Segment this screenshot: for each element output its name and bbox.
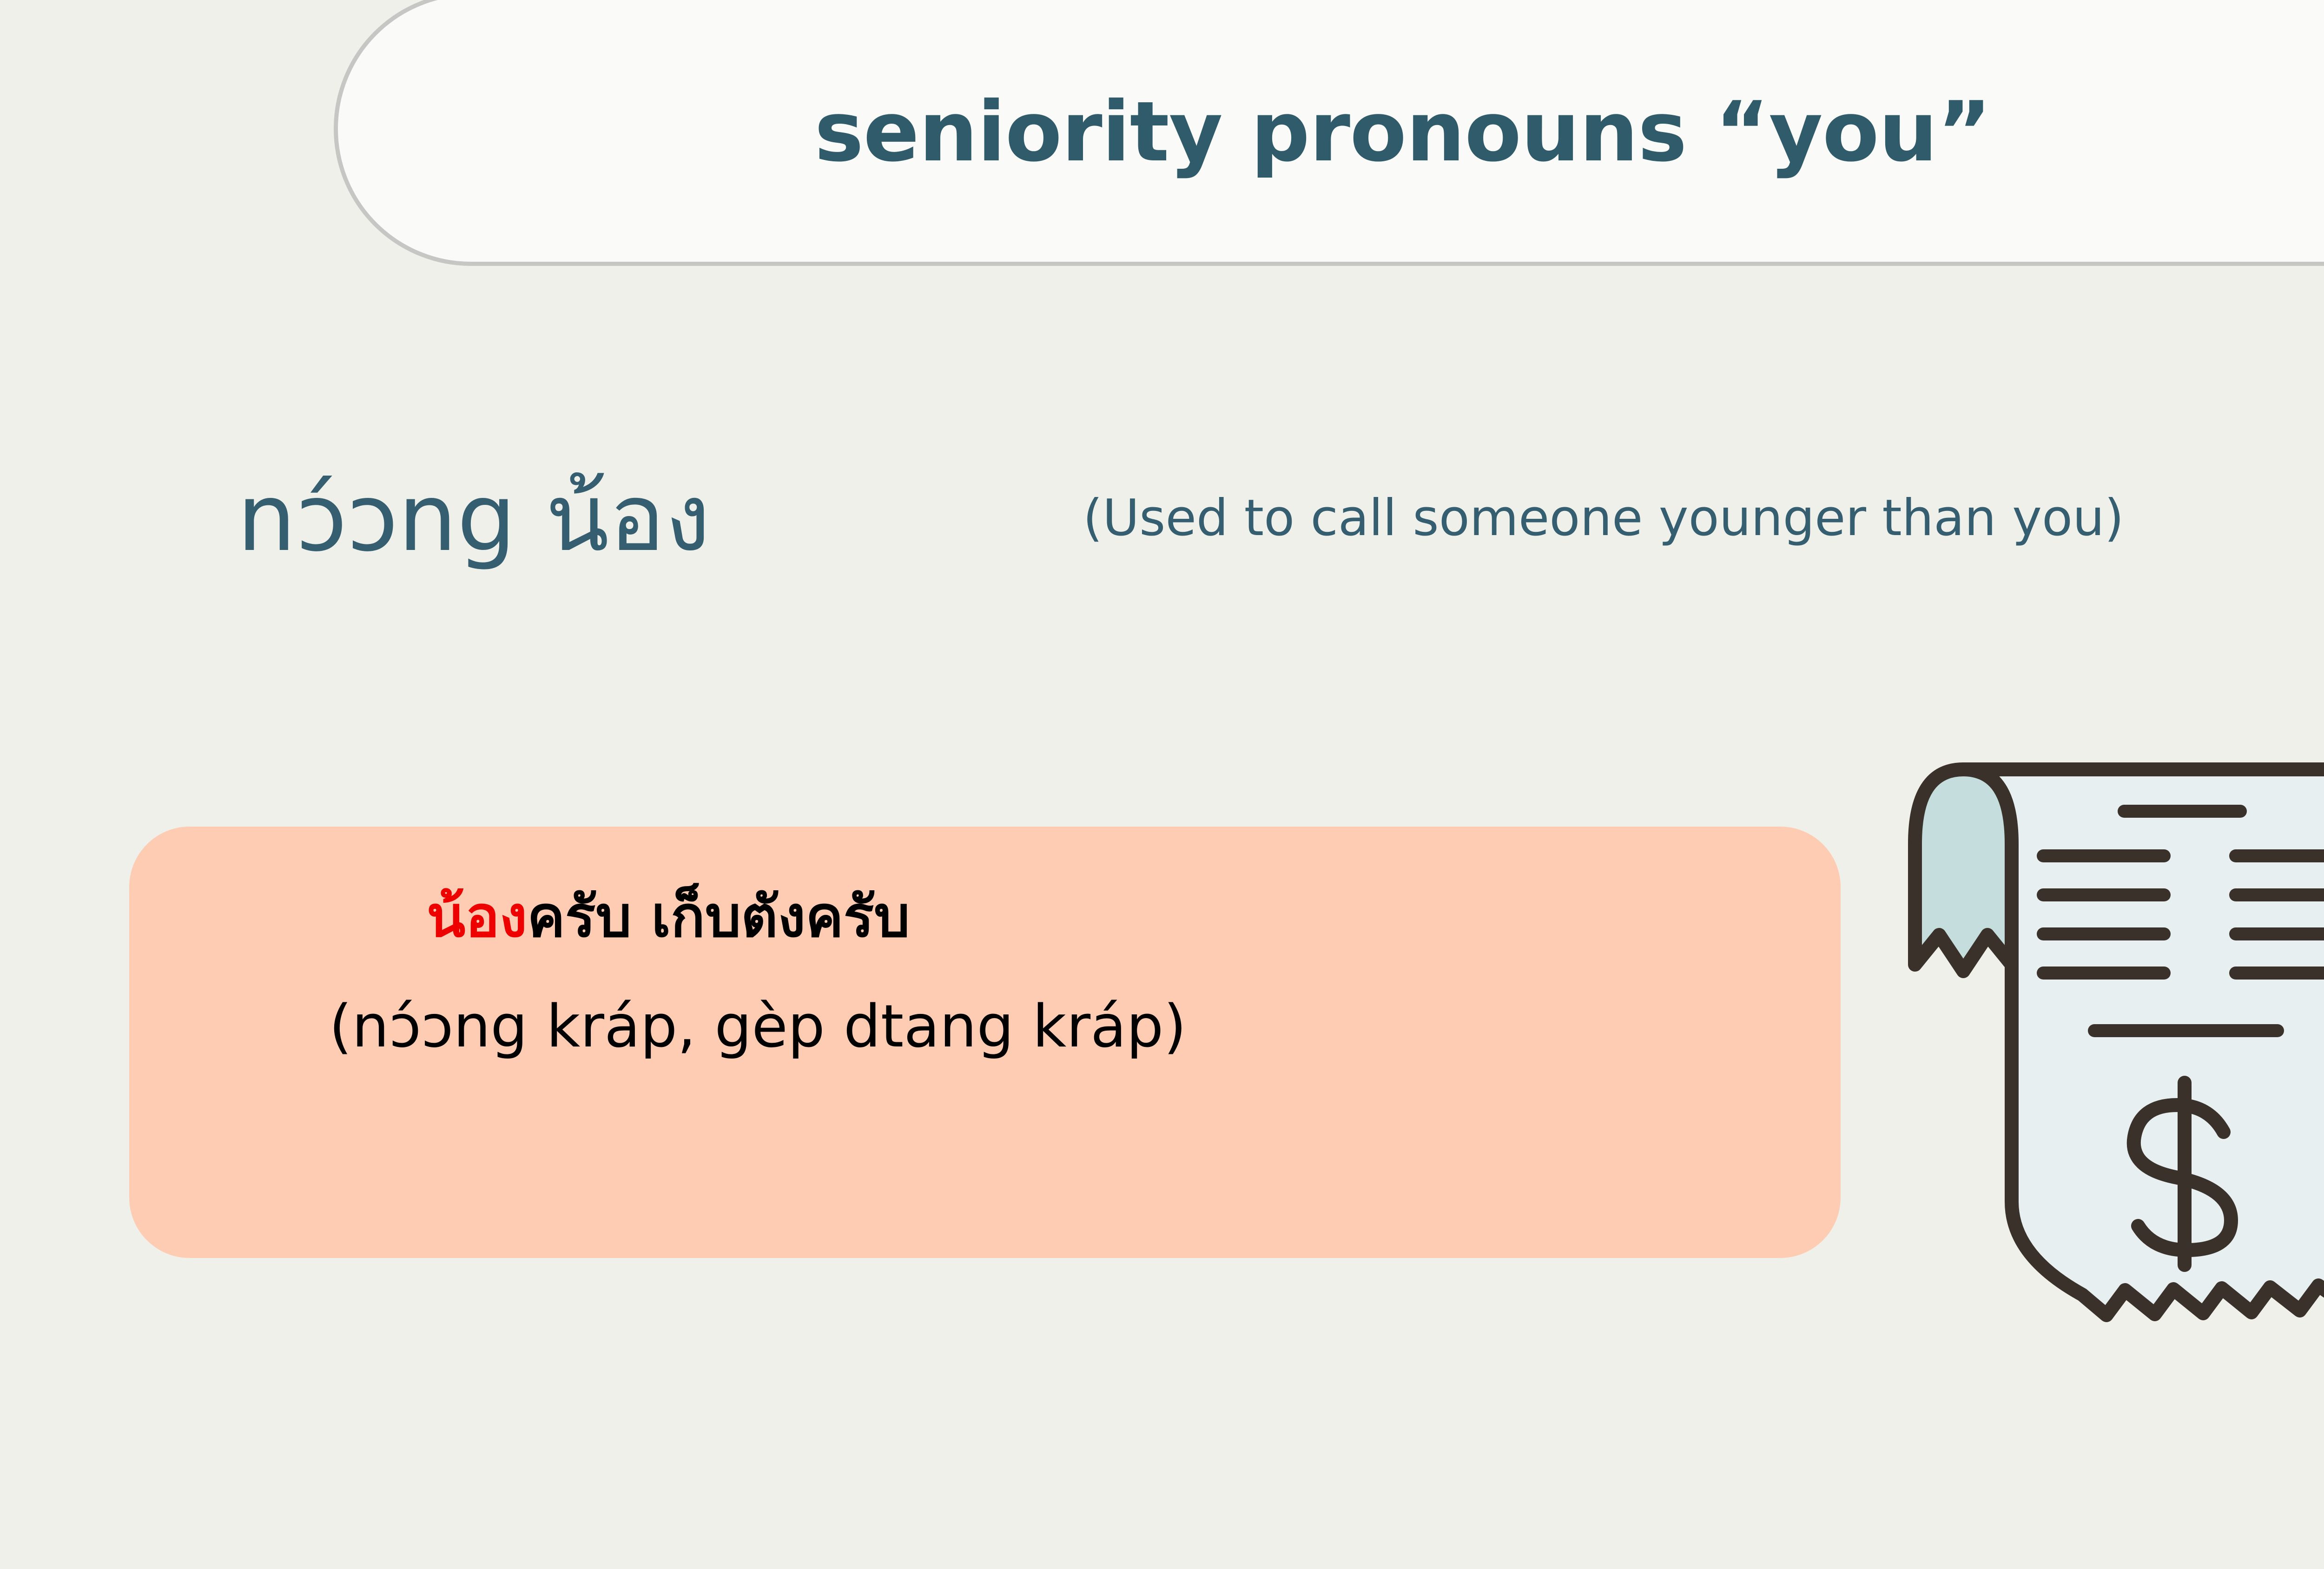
- headword-gloss: (Used to call someone younger than you): [1083, 425, 2124, 611]
- example-thai-rest: ครับ เก็บตังครับ: [527, 884, 910, 950]
- headword-row: nɔ́ɔng น้อง (Used to call someone younge…: [0, 425, 2324, 611]
- receipt-illustration: [1906, 718, 2324, 1378]
- example-card: น้องครับ เก็บตังครับ (nɔ́ɔng kráp, gèp d…: [129, 827, 1841, 1258]
- example-romanization-line: (nɔ́ɔng kráp, gèp dtang kráp): [329, 990, 1841, 1063]
- headword-term: nɔ́ɔng น้อง: [237, 425, 710, 611]
- title-pill: seniority pronouns “you”: [334, 0, 2324, 266]
- example-thai-line: น้องครับ เก็บตังครับ: [427, 881, 1841, 953]
- example-keyword-highlight: น้อง: [427, 884, 527, 950]
- receipt-icon: [1906, 718, 2324, 1378]
- page-title: seniority pronouns “you”: [814, 84, 1991, 173]
